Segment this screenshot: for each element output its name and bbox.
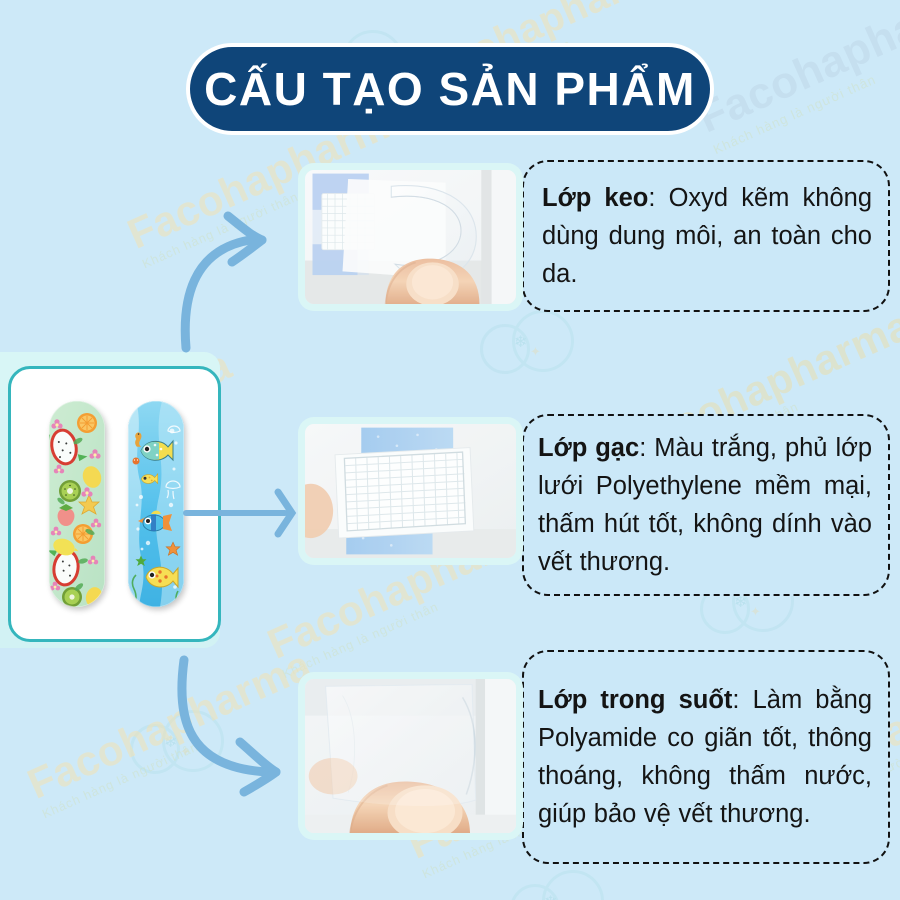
- ocean-pattern: [128, 401, 184, 607]
- callout-text-transparent-layer: Lớp trong suốt: Làm bằng Polyamide co gi…: [538, 681, 888, 834]
- callout-text-gauze-layer: Lớp gạc: Màu trắng, phủ lớp lưới Polyeth…: [538, 429, 888, 582]
- callout-label-transparent-layer: Lớp trong suốt: [538, 686, 732, 714]
- product-card: [8, 366, 221, 642]
- fruit-pattern: [49, 401, 105, 607]
- brand-watermark-text: Facohapharma: [691, 0, 900, 142]
- callout-separator: :: [732, 686, 752, 714]
- callout-transparent-layer: Lớp trong suốt: Làm bằng Polyamide co gi…: [522, 650, 890, 864]
- infographic-canvas: ❄ ✦ ❄ ✦ ❄ ✦ ❄ ✦ ❄ Facohapharma Kh: [0, 0, 900, 900]
- arrow-to-transparent-layer: [182, 660, 276, 792]
- callout-separator: :: [648, 184, 668, 212]
- callout-separator: :: [639, 434, 654, 462]
- cloud-logo-watermark: ❄ ✦: [120, 700, 240, 780]
- cloud-logo-watermark: ❄: [500, 860, 620, 900]
- callout-adhesive-layer: Lớp keo: Oxyd kẽm không dùng dung môi, a…: [522, 160, 890, 312]
- brand-watermark-tagline: Khách hàng là người thân: [711, 14, 900, 157]
- callout-label-gauze-layer: Lớp gạc: [538, 434, 639, 462]
- callout-text-adhesive-layer: Lớp keo: Oxyd kẽm không dùng dung môi, a…: [542, 179, 888, 294]
- brand-watermark-text: Facohapharma: [21, 641, 319, 808]
- fruit-pattern-bandage: [49, 401, 105, 607]
- callout-gauze-layer: Lớp gạc: Màu trắng, phủ lớp lưới Polyeth…: [522, 414, 890, 596]
- arrow-to-adhesive-layer: [185, 216, 262, 348]
- brand-watermark: Facohapharma Khách hàng là người thân: [21, 641, 325, 822]
- photo-frame-adhesive-layer: [298, 163, 523, 311]
- page-title: CẤU TẠO SẢN PHẨM: [204, 66, 696, 112]
- ocean-pattern-bandage: [128, 401, 184, 607]
- photo-frame-gauze-layer: [298, 417, 523, 565]
- brand-watermark: Facohapharma Khách hàng là người thân: [691, 0, 900, 157]
- photo-frame-transparent-layer: [298, 672, 523, 840]
- photo-adhesive-layer: [305, 170, 516, 304]
- page-title-pill: CẤU TẠO SẢN PHẨM: [186, 43, 714, 135]
- cloud-logo-watermark: ❄ ✦: [470, 300, 590, 380]
- photo-transparent-layer: [305, 679, 516, 833]
- brand-watermark-tagline: Khách hàng là người thân: [40, 685, 324, 822]
- photo-gauze-layer: [305, 424, 516, 558]
- callout-label-adhesive-layer: Lớp keo: [542, 184, 648, 212]
